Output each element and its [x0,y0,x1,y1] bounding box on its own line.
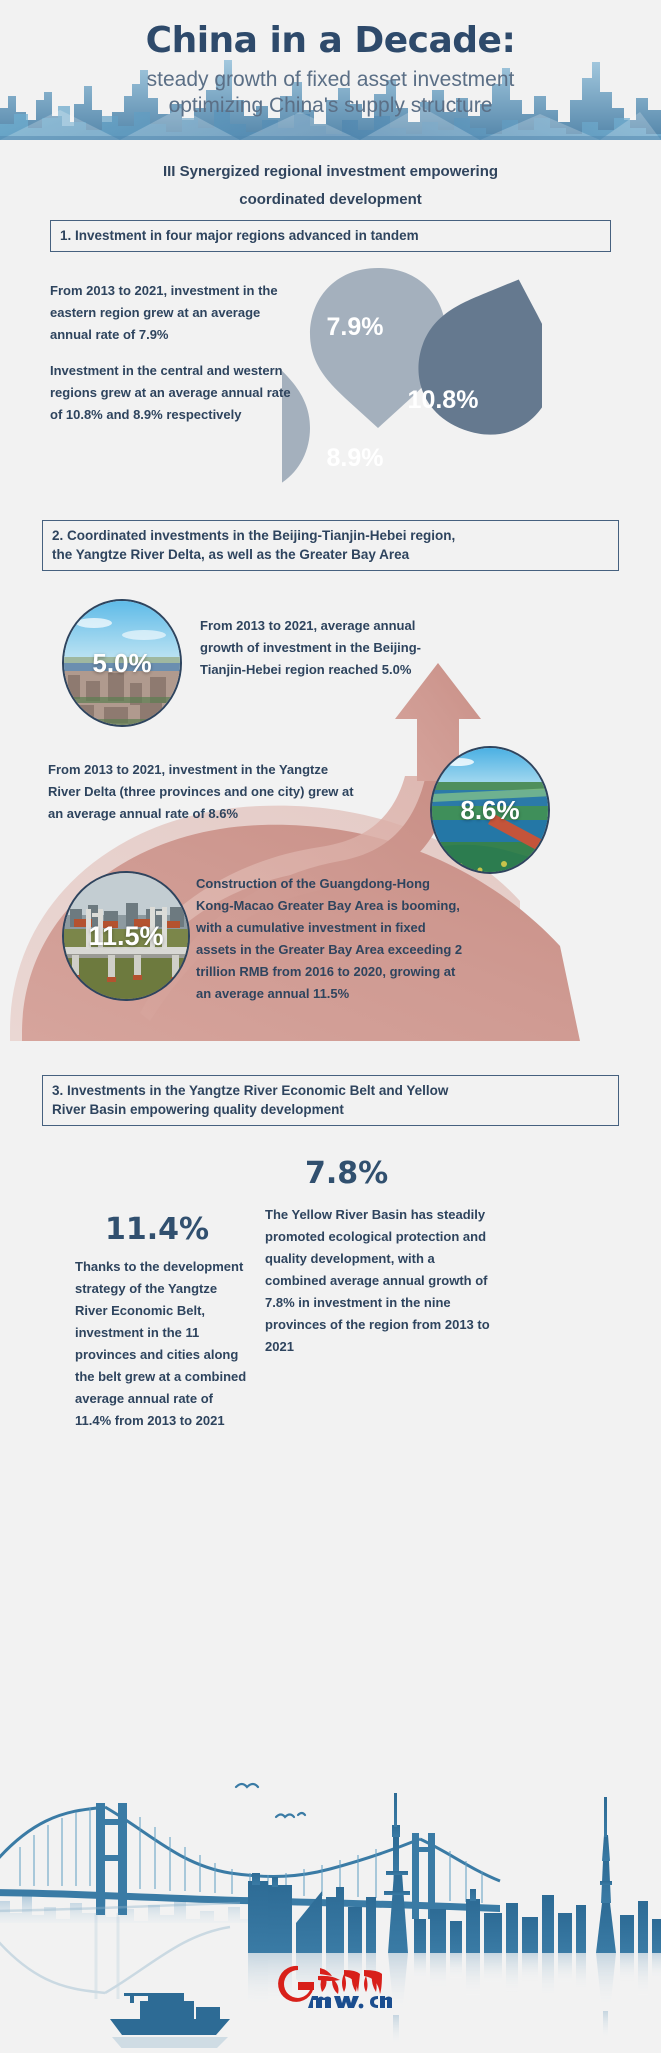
teardrop-label-western: 8.9% [300,438,410,478]
gmw-logo[interactable] [272,1962,392,2010]
section3-box-heading-line2: River Basin empowering quality developme… [52,1100,609,1119]
page-subtitle-line2: optimizing China's supply structure [0,94,661,118]
photo-circle-greater-bay-area: 11.5% [62,871,190,1001]
page-subtitle-line1: steady growth of fixed asset investment [0,68,661,92]
section3-value-yangtze-belt: 11.4% [105,1212,209,1247]
section3-box-heading-line1: 3. Investments in the Yangtze River Econ… [52,1081,609,1100]
section-heading-line1: III Synergized regional investment empow… [0,158,661,186]
section2-text-beijing: From 2013 to 2021, average annual growth… [200,615,440,681]
teardrop-label-eastern: 7.9% [300,307,410,347]
section3-box-heading: 3. Investments in the Yangtze River Econ… [42,1075,619,1126]
photo-circle-value-86: 8.6% [460,795,519,826]
section3-box-wrap: 3. Investments in the Yangtze River Econ… [0,1075,661,1126]
infographic-page: China in a Decade: steady growth of fixe… [0,0,661,2048]
section2-box-heading-line2: the Yangtze River Delta, as well as the … [52,545,609,564]
section1-box-wrap: 1. Investment in four major regions adva… [0,220,661,252]
page-title: China in a Decade: [0,20,661,61]
photo-circle-value-115: 11.5% [88,921,163,952]
header: China in a Decade: steady growth of fixe… [0,0,661,140]
gmw-logo-icon [272,1962,392,2010]
section2-text-yangtze: From 2013 to 2021, investment in the Yan… [48,759,358,825]
section-heading: III Synergized regional investment empow… [0,158,661,214]
section1-box-heading: 1. Investment in four major regions adva… [50,220,611,252]
section-heading-line2: coordinated development [0,186,661,214]
section3-text-yellow-river: The Yellow River Basin has steadily prom… [265,1204,495,1358]
section2-text-greater-bay: Construction of the Guangdong-Hong Kong-… [196,873,464,1005]
section3-value-yellow-river: 7.8% [305,1156,388,1191]
photo-circle-value-5: 5.0% [92,648,151,679]
section1-paragraph-2: Investment in the central and western re… [50,360,300,426]
section2-box-wrap: 2. Coordinated investments in the Beijin… [0,520,661,571]
teardrop-label-central: 10.8% [378,380,508,420]
section3: 7.8% The Yellow River Basin has steadily… [0,1126,661,1546]
section2-box-heading-line1: 2. Coordinated investments in the Beijin… [52,526,609,545]
section2-box-heading: 2. Coordinated investments in the Beijin… [42,520,619,571]
section3-text-yangtze-belt: Thanks to the development strategy of th… [75,1256,247,1432]
section1: 7.9% 10.8% 8.9% From 2013 to 2021, inves… [0,252,661,502]
photo-circle-beijing-tianjin-hebei: 5.0% [62,599,182,727]
photo-circle-yangtze-delta: 8.6% [430,746,550,874]
section2: 5.0% From 2013 to 2021, average annual g… [0,571,661,1071]
section1-paragraph-1: From 2013 to 2021, investment in the eas… [50,280,300,346]
